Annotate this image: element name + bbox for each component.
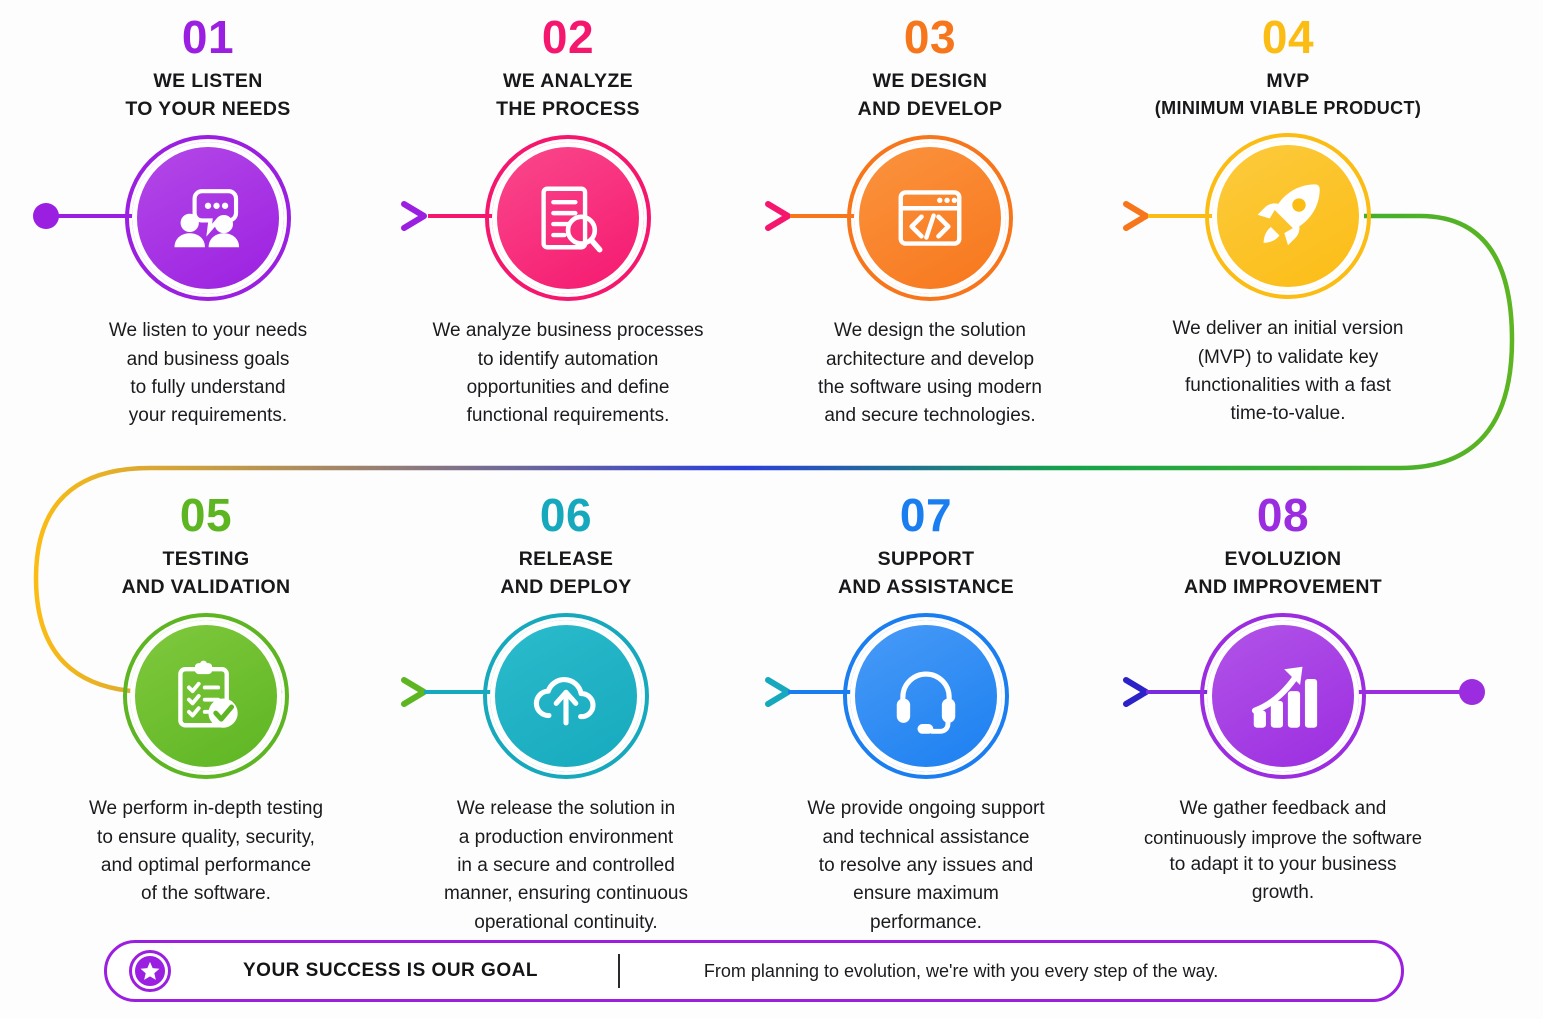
step-icon-area <box>736 611 1116 781</box>
desc-line: ensure maximum <box>736 880 1116 908</box>
step-title: TESTING AND VALIDATION <box>16 546 396 601</box>
step-title-line2: AND ASSISTANCE <box>736 574 1116 602</box>
step-icon-disc[interactable] <box>490 620 642 772</box>
step-description: We deliver an initial version (MVP) to v… <box>1098 315 1478 428</box>
growth-chart-icon <box>1244 657 1322 735</box>
step-description: We perform in-depth testing to ensure qu… <box>16 795 396 908</box>
step-number: 06 <box>376 492 756 538</box>
step-number: 03 <box>740 14 1120 60</box>
infographic-canvas: 01 WE LISTEN TO YOUR NEEDS <box>0 0 1543 1019</box>
step-description: We analyze business processes to identif… <box>378 317 758 430</box>
step-title-line1: MVP <box>1266 70 1309 92</box>
step-title-line2: TO YOUR NEEDS <box>18 96 398 124</box>
desc-line: continuously improve the software <box>1093 824 1473 851</box>
step-title-line1: WE LISTEN <box>153 70 262 92</box>
step-card-04: 04 MVP (MINIMUM VIABLE PRODUCT) <box>1098 14 1478 428</box>
step-icon-area <box>1093 611 1473 781</box>
step-title: EVOLUZION AND IMPROVEMENT <box>1093 546 1473 601</box>
chat-users-icon <box>169 179 247 257</box>
desc-line: time-to-value. <box>1098 400 1478 428</box>
rocket-icon <box>1249 177 1327 255</box>
step-number: 04 <box>1098 14 1478 60</box>
step-icon-disc[interactable] <box>132 142 284 294</box>
desc-line: We perform in-depth testing <box>16 795 396 823</box>
step-title-line1: WE ANALYZE <box>503 70 633 92</box>
step-title-line2: THE PROCESS <box>378 96 758 124</box>
desc-line: to fully understand <box>18 374 398 402</box>
headset-icon <box>887 657 965 735</box>
desc-line: to resolve any issues and <box>736 852 1116 880</box>
desc-line: architecture and develop <box>740 346 1120 374</box>
desc-line: a production environment <box>376 824 756 852</box>
desc-line: growth. <box>1093 879 1473 907</box>
desc-line: functional requirements. <box>378 402 758 430</box>
step-description: We provide ongoing support and technical… <box>736 795 1116 936</box>
step-title-line1: EVOLUZION <box>1225 548 1342 570</box>
desc-line: to ensure quality, security, <box>16 824 396 852</box>
desc-line: and optimal performance <box>16 852 396 880</box>
footer-tagline: From planning to evolution, we're with y… <box>704 961 1218 982</box>
step-card-05: 05 TESTING AND VALIDATION <box>16 492 396 909</box>
desc-line: opportunities and define <box>378 374 758 402</box>
step-title-line1: WE DESIGN <box>873 70 988 92</box>
desc-line: We provide ongoing support <box>736 795 1116 823</box>
step-description: We design the solution architecture and … <box>740 317 1120 430</box>
step-title: MVP (MINIMUM VIABLE PRODUCT) <box>1098 68 1478 121</box>
desc-line: We release the solution in <box>376 795 756 823</box>
desc-line: to adapt it to your business <box>1093 851 1473 879</box>
step-description: We gather feedback and continuously impr… <box>1093 795 1473 907</box>
step-icon-area <box>18 133 398 303</box>
step-icon-disc[interactable] <box>1207 620 1359 772</box>
code-window-icon <box>891 179 969 257</box>
step-number: 05 <box>16 492 396 538</box>
desc-line: and technical assistance <box>736 824 1116 852</box>
desc-line: and business goals <box>18 346 398 374</box>
step-title: SUPPORT AND ASSISTANCE <box>736 546 1116 601</box>
step-icon-area <box>378 133 758 303</box>
footer-divider <box>618 954 620 988</box>
desc-line: of the software. <box>16 880 396 908</box>
step-icon-area <box>740 133 1120 303</box>
step-number: 07 <box>736 492 1116 538</box>
desc-line: and secure technologies. <box>740 402 1120 430</box>
desc-line: performance. <box>736 909 1116 937</box>
clipboard-check-icon <box>167 657 245 735</box>
desc-line: (MVP) to validate key <box>1098 344 1478 372</box>
desc-line: We analyze business processes <box>378 317 758 345</box>
step-title: WE ANALYZE THE PROCESS <box>378 68 758 123</box>
desc-line: functionalities with a fast <box>1098 372 1478 400</box>
step-number: 01 <box>18 14 398 60</box>
step-title: RELEASE AND DEPLOY <box>376 546 756 601</box>
desc-line: in a secure and controlled <box>376 852 756 880</box>
star-badge-icon <box>129 950 171 992</box>
desc-line: We design the solution <box>740 317 1120 345</box>
desc-line: We listen to your needs <box>18 317 398 345</box>
footer-banner: YOUR SUCCESS IS OUR GOAL From planning t… <box>104 940 1404 1002</box>
step-card-06: 06 RELEASE AND DEPLOY We release the sol… <box>376 492 756 937</box>
step-card-02: 02 WE ANALYZE THE PROCESS <box>378 14 758 431</box>
step-number: 08 <box>1093 492 1473 538</box>
step-card-07: 07 SUPPORT AND ASSISTANCE We provide o <box>736 492 1116 937</box>
desc-line: the software using modern <box>740 374 1120 402</box>
step-title-line2: AND DEPLOY <box>376 574 756 602</box>
step-title: WE DESIGN AND DEVELOP <box>740 68 1120 123</box>
desc-line: We gather feedback and <box>1093 795 1473 823</box>
step-title-line2: AND DEVELOP <box>740 96 1120 124</box>
desc-line: manner, ensuring continuous <box>376 880 756 908</box>
document-magnifier-icon <box>529 179 607 257</box>
step-description: We listen to your needs and business goa… <box>18 317 398 430</box>
step-title-line1: TESTING <box>163 548 250 570</box>
step-title-line1: RELEASE <box>519 548 614 570</box>
step-title-line2: AND VALIDATION <box>16 574 396 602</box>
step-icon-disc[interactable] <box>854 142 1006 294</box>
step-title-line1: SUPPORT <box>878 548 975 570</box>
step-icon-disc[interactable] <box>130 620 282 772</box>
cloud-upload-icon <box>527 657 605 735</box>
step-icon-area <box>16 611 396 781</box>
step-card-08: 08 EVOLUZION AND IMPROVEMENT <box>1093 492 1473 908</box>
step-number: 02 <box>378 14 758 60</box>
step-description: We release the solution in a production … <box>376 795 756 936</box>
step-title-line2: AND IMPROVEMENT <box>1093 574 1473 602</box>
step-icon-area <box>1098 131 1478 301</box>
goal-label: YOUR SUCCESS IS OUR GOAL <box>243 960 538 982</box>
step-card-03: 03 WE DESIGN AND DEVELOP <box>740 14 1120 431</box>
step-card-01: 01 WE LISTEN TO YOUR NEEDS <box>18 14 398 431</box>
desc-line: your requirements. <box>18 402 398 430</box>
desc-line: We deliver an initial version <box>1098 315 1478 343</box>
star-glyph <box>139 960 161 982</box>
step-icon-disc[interactable] <box>1212 140 1364 292</box>
step-title-line2: (MINIMUM VIABLE PRODUCT) <box>1098 96 1478 122</box>
step-title: WE LISTEN TO YOUR NEEDS <box>18 68 398 123</box>
desc-line: operational continuity. <box>376 909 756 937</box>
step-icon-area <box>376 611 756 781</box>
step-icon-disc[interactable] <box>492 142 644 294</box>
step-icon-disc[interactable] <box>850 620 1002 772</box>
desc-line: to identify automation <box>378 346 758 374</box>
